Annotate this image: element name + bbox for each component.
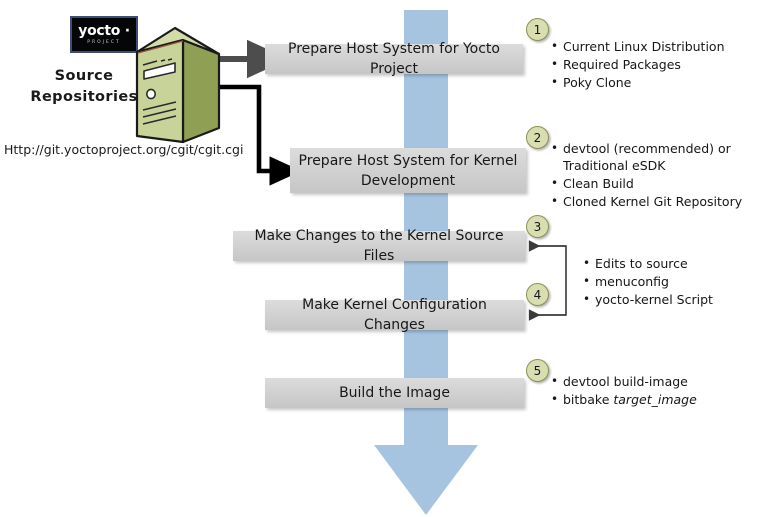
list-item: menuconfig — [583, 273, 763, 290]
process-box-step-5[interactable]: Build the Image — [265, 378, 524, 408]
list-item: bitbake target_image — [551, 391, 763, 408]
list-item: devtool build-image — [551, 373, 763, 390]
logo-subtitle: PROJECT — [87, 39, 120, 46]
bullet-list-steps-3-4: Edits to source menuconfig yocto-kernel … — [583, 255, 763, 309]
process-box-step-2[interactable]: Prepare Host System for Kernel Developme… — [290, 148, 526, 193]
connector-server-to-step2 — [215, 87, 274, 171]
server-tower-icon — [131, 24, 223, 146]
step-badge-3: 3 — [526, 215, 549, 238]
bullet-list-step-5: devtool build-image bitbake target_image — [551, 373, 763, 409]
list-item: Current Linux Distribution — [551, 38, 763, 55]
list-item: Required Packages — [551, 56, 763, 73]
yocto-project-logo: yocto · PROJECT — [70, 16, 138, 53]
step-badge-1: 1 — [526, 18, 549, 41]
list-item: devtool (recommended) or Traditional eSD… — [551, 140, 766, 174]
list-item: yocto-kernel Script — [583, 291, 763, 308]
step-badge-4: 4 — [526, 283, 549, 306]
bullet-list-step-2: devtool (recommended) or Traditional eSD… — [551, 140, 766, 211]
process-box-step-3[interactable]: Make Changes to the Kernel Source Files — [233, 231, 525, 261]
process-box-step-4[interactable]: Make Kernel Configuration Changes — [265, 300, 524, 330]
bitbake-target-placeholder: target_image — [613, 392, 696, 407]
list-item: Poky Clone — [551, 74, 763, 91]
list-item: Cloned Kernel Git Repository — [551, 193, 766, 210]
bitbake-command-prefix: bitbake — [563, 392, 613, 407]
logo-wordmark: yocto · — [78, 24, 129, 38]
step-badge-5: 5 — [526, 359, 549, 382]
list-item: Edits to source — [583, 255, 763, 272]
bullet-list-step-1: Current Linux Distribution Required Pack… — [551, 38, 763, 92]
step-badge-2: 2 — [526, 126, 549, 149]
list-item: Clean Build — [551, 175, 766, 192]
process-box-step-1[interactable]: Prepare Host System for Yocto Project — [265, 44, 523, 74]
diagram-canvas: yocto · PROJECT Source Repositories Http… — [0, 0, 769, 517]
